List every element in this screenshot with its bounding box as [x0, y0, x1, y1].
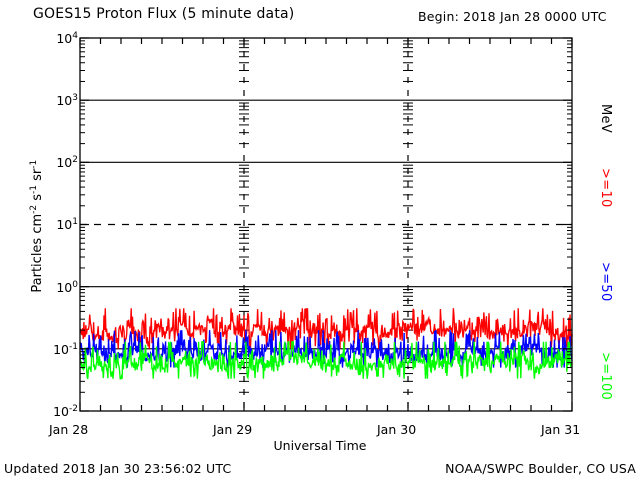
plot-area — [0, 0, 640, 480]
data-layer — [80, 308, 572, 379]
chart-page: GOES15 Proton Flux (5 minute data) Begin… — [0, 0, 640, 480]
